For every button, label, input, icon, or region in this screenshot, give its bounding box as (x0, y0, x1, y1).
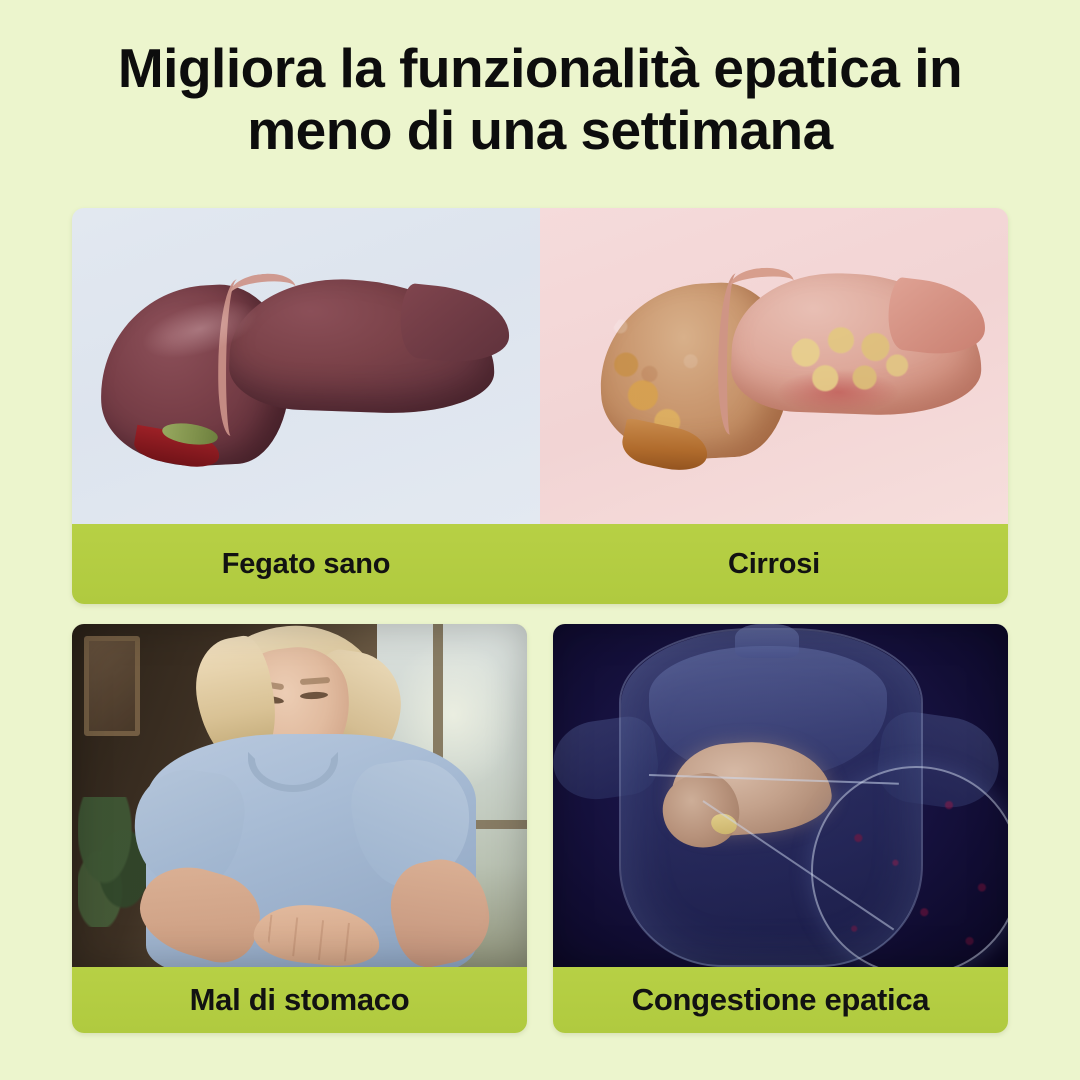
cirrhotic-liver-image (540, 208, 1008, 524)
page-title: Migliora la funzionalità epatica in meno… (60, 38, 1020, 161)
falciform-ligament-top (729, 265, 796, 302)
fatty-liver-body-render (553, 624, 1008, 967)
caption-healthy-liver: Fegato sano (72, 524, 540, 604)
label-liver-congestion: Congestione epatica (553, 967, 1008, 1033)
medical-render-background (553, 624, 1008, 967)
comparison-images (72, 208, 1008, 524)
healthy-liver-illustration (100, 274, 500, 469)
caption-cirrhosis: Cirrosi (540, 524, 1008, 604)
label-stomach-ache: Mal di stomaco (72, 967, 527, 1033)
wall-picture-frame (84, 636, 140, 736)
comparison-caption-bar: Fegato sano Cirrosi (72, 524, 1008, 604)
healthy-liver-image (72, 208, 540, 524)
cirrhotic-liver-illustration (600, 270, 970, 470)
tissue-cell-detail (813, 768, 1008, 967)
woman-with-stomach-ache-photo (72, 624, 527, 967)
magnified-tissue-inset (811, 766, 1008, 967)
card-liver-congestion: Congestione epatica (553, 624, 1008, 1033)
interior-scene-background (72, 624, 527, 967)
neck (735, 624, 799, 658)
liver-tip (396, 282, 513, 367)
poster-root: Migliora la funzionalità epatica in meno… (0, 0, 1080, 1080)
card-stomach-ache: Mal di stomaco (72, 624, 527, 1033)
liver-comparison-block: Fegato sano Cirrosi (72, 208, 1008, 604)
